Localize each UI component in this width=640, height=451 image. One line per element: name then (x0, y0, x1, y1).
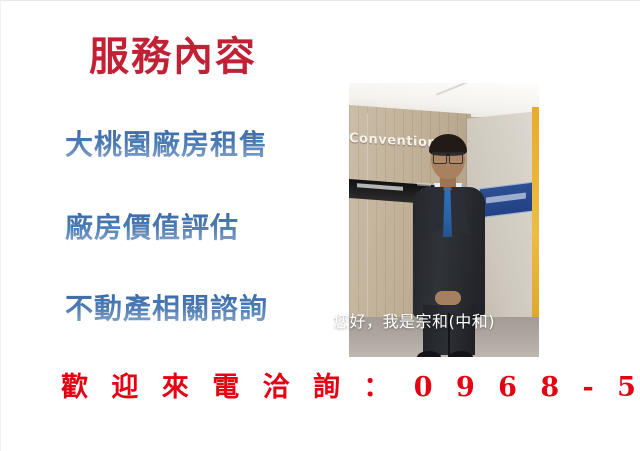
slide-canvas: 服務內容 大桃園廠房租售 廠房價值評估 不動產相關諮詢 歡 迎 來 電 洽 詢 … (0, 0, 640, 451)
service-item-1: 大桃園廠房租售 (65, 130, 268, 161)
shoe-right (449, 351, 473, 357)
photo-caption: 您好，我是宗和(中和) (333, 308, 495, 332)
shoe-left (417, 351, 441, 357)
clasped-hands (435, 291, 461, 305)
glasses-icon (432, 152, 464, 160)
page-title: 服務內容 (89, 35, 257, 79)
service-item-3: 不動產相關諮詢 (65, 294, 268, 325)
service-item-2: 廠房價值評估 (65, 213, 239, 244)
contact-phone-line: 歡 迎 來 電 洽 詢 ： 0 9 6 8 - 5 1 9 - 8 8 8 (61, 372, 640, 403)
